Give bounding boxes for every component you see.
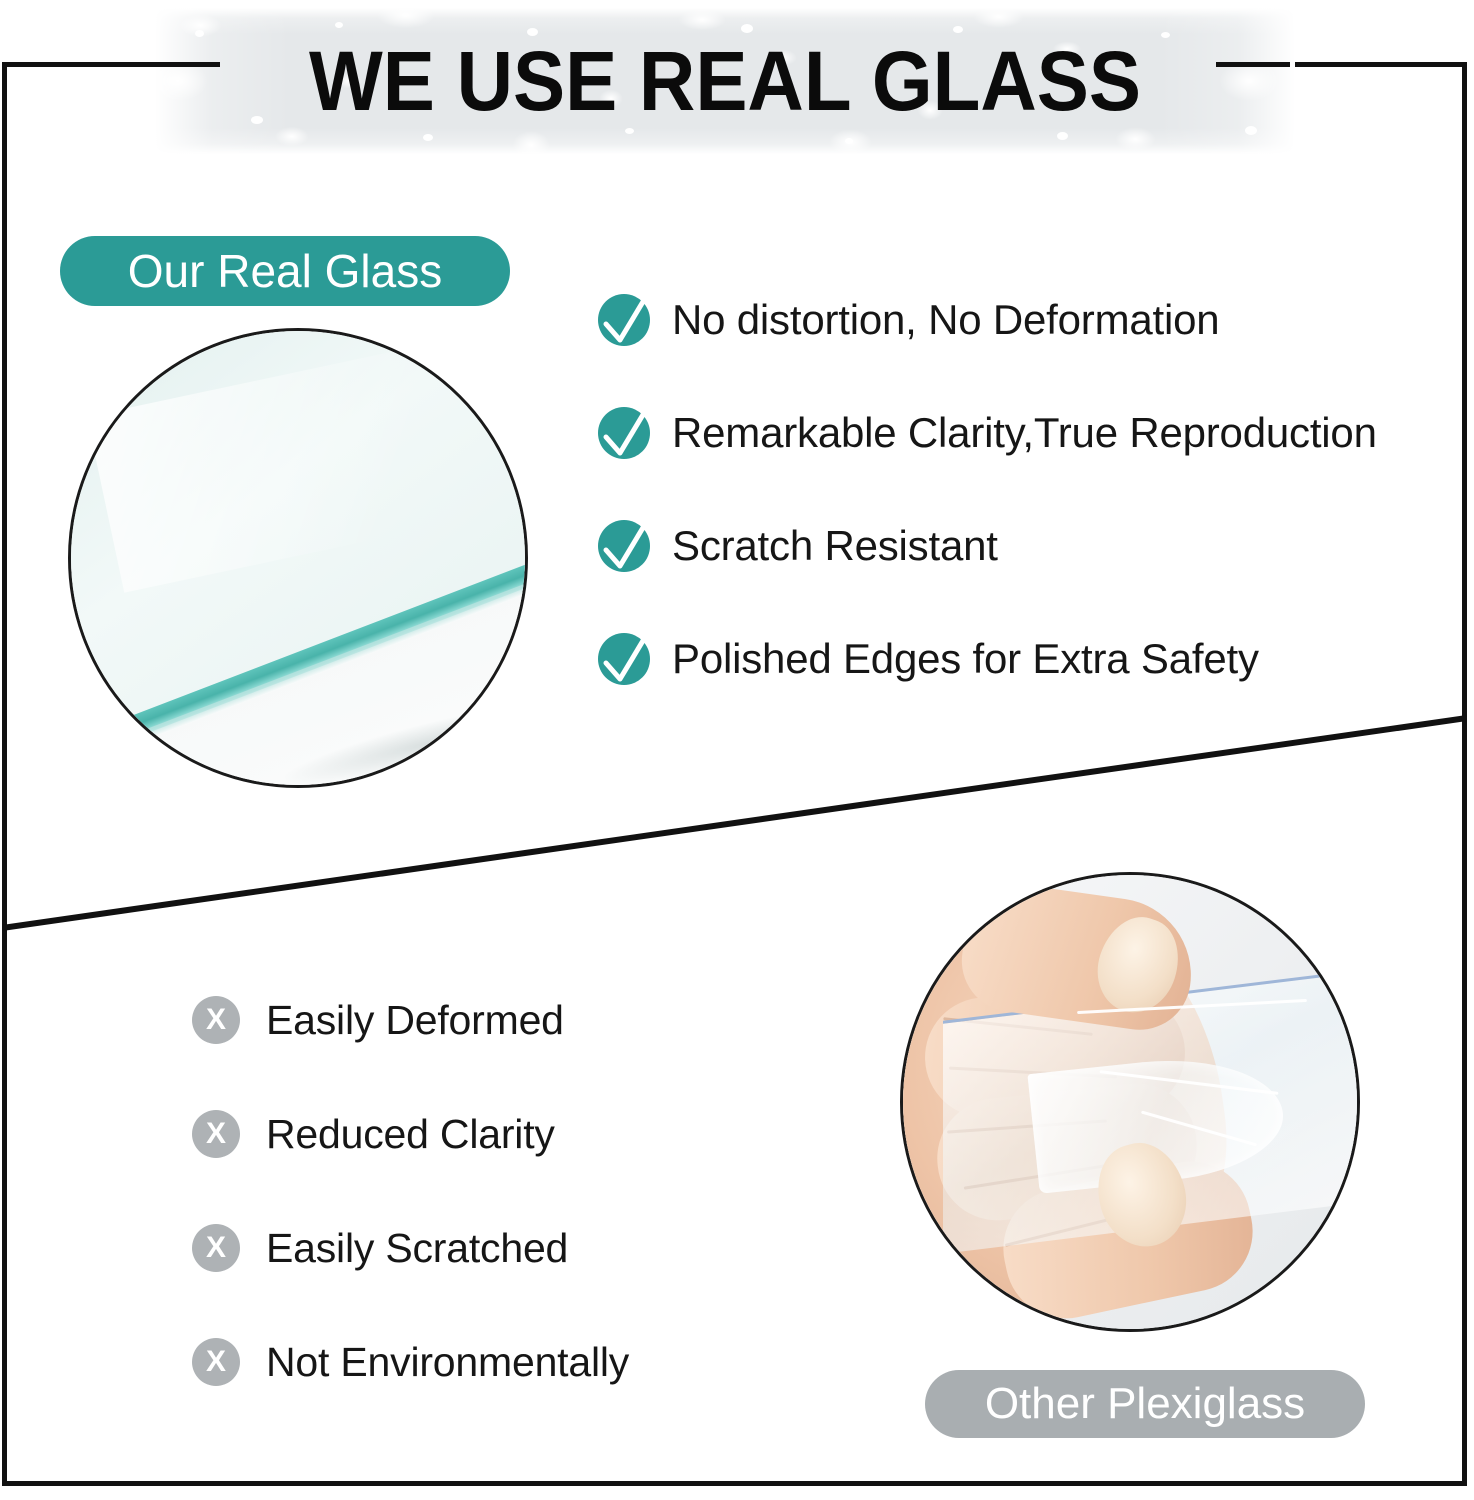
- check-icon: [598, 633, 650, 685]
- x-icon: X: [192, 996, 240, 1044]
- list-item-label: No distortion, No Deformation: [672, 296, 1219, 344]
- badge-our-real-glass: Our Real Glass: [60, 236, 510, 306]
- title-banner: WE USE REAL GLASS: [155, 8, 1295, 154]
- real-glass-photo: [68, 328, 528, 788]
- advantages-list: No distortion, No Deformation Remarkable…: [598, 290, 1468, 742]
- list-item-label: Not Environmentally: [266, 1339, 629, 1386]
- list-item-label: Reduced Clarity: [266, 1111, 555, 1158]
- check-icon: [598, 520, 650, 572]
- title-rule-left: [150, 62, 220, 67]
- page-title: WE USE REAL GLASS: [195, 8, 1255, 154]
- x-icon: X: [192, 1338, 240, 1386]
- list-item-label: Easily Deformed: [266, 997, 564, 1044]
- list-item: Scratch Resistant: [598, 516, 1468, 576]
- list-item-label: Easily Scratched: [266, 1225, 568, 1272]
- check-icon: [598, 407, 650, 459]
- list-item: No distortion, No Deformation: [598, 290, 1468, 350]
- list-item: X Easily Scratched: [192, 1218, 752, 1278]
- x-icon: X: [192, 1110, 240, 1158]
- list-item: X Reduced Clarity: [192, 1104, 752, 1164]
- list-item: X Easily Deformed: [192, 990, 752, 1050]
- check-icon: [598, 294, 650, 346]
- list-item: Polished Edges for Extra Safety: [598, 629, 1468, 689]
- list-item-label: Scratch Resistant: [672, 522, 998, 570]
- badge-other-plexiglass: Other Plexiglass: [925, 1370, 1365, 1438]
- list-item: X Not Environmentally: [192, 1332, 752, 1392]
- plexiglass-photo: [900, 872, 1360, 1332]
- disadvantages-list: X Easily Deformed X Reduced Clarity X Ea…: [192, 990, 752, 1446]
- list-item-label: Polished Edges for Extra Safety: [672, 635, 1259, 683]
- list-item: Remarkable Clarity,True Reproduction: [598, 403, 1468, 463]
- x-icon: X: [192, 1224, 240, 1272]
- title-rule-right: [1216, 62, 1290, 67]
- list-item-label: Remarkable Clarity,True Reproduction: [672, 409, 1377, 457]
